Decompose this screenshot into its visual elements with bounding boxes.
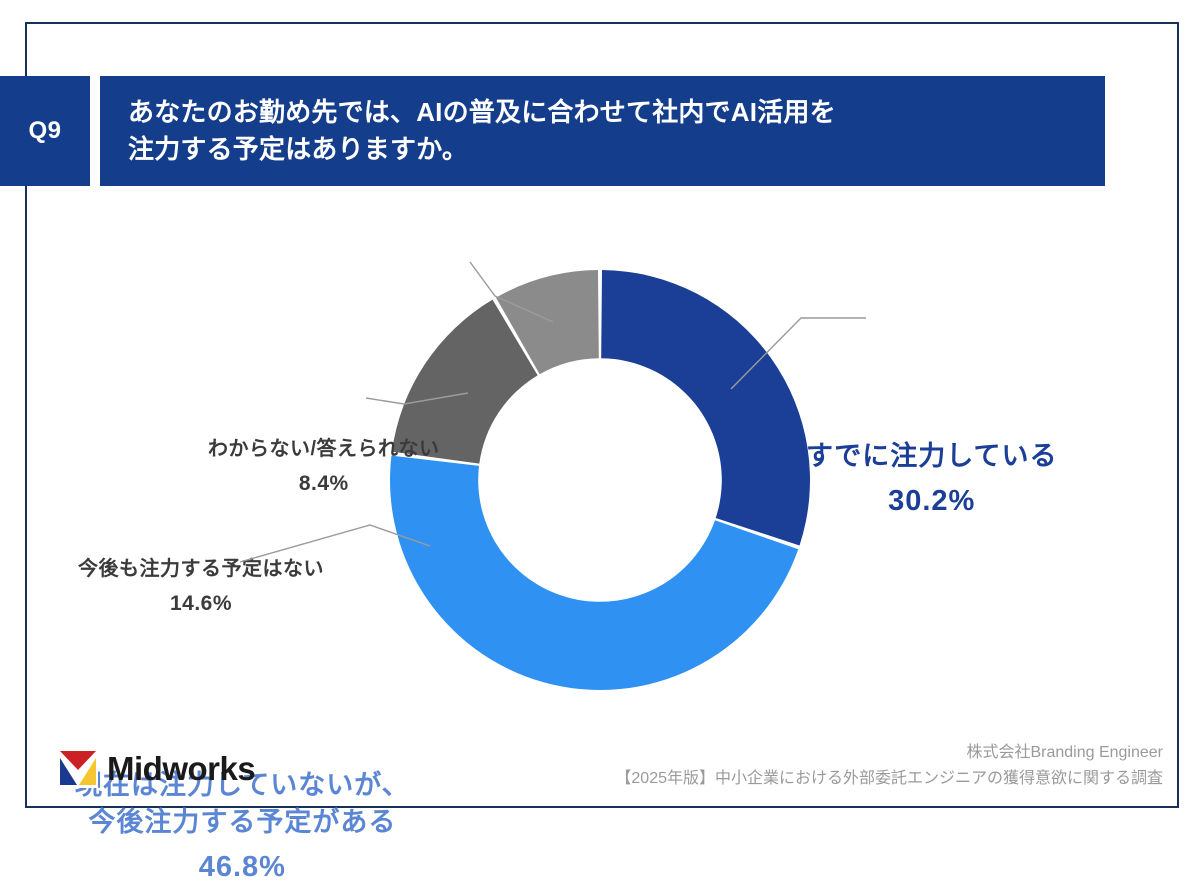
donut-chart [385,265,815,695]
label-already-text: すでに注力している [806,438,1057,475]
question-title-line-1: あなたのお勤め先では、AIの普及に合わせて社内でAI活用を [128,94,1105,131]
label-already-focused: すでに注力している 30.2% [806,438,1057,521]
slide-canvas: Q9 あなたのお勤め先では、AIの普及に合わせて社内でAI活用を 注力する予定は… [0,0,1203,833]
donut-slice [601,270,810,545]
label-no-plan: 今後も注力する予定はない 14.6% [78,556,324,619]
label-no-plan-text: 今後も注力する予定はない [78,556,324,584]
question-title-line-2: 注力する予定はありますか。 [128,131,1105,168]
midworks-logo-mark-icon [58,748,98,788]
midworks-logo-text: Midworks [107,752,255,785]
question-number-label: Q9 [28,117,61,145]
midworks-logo: Midworks [58,748,255,788]
label-unknown: わからない/答えられない 8.4% [208,436,440,499]
donut-slices [390,270,810,690]
question-number-badge: Q9 [0,76,90,186]
footer-credit-survey: 【2025年版】中小企業における外部委託エンジニアの獲得意欲に関する調査 [615,766,1163,792]
label-already-value: 30.2% [806,481,1057,521]
label-unknown-value: 8.4% [208,470,440,499]
label-unknown-text: わからない/答えられない [208,436,440,464]
footer-credit-company: 株式会社Branding Engineer [615,740,1163,766]
footer-credit: 株式会社Branding Engineer 【2025年版】中小企業における外部… [615,740,1163,791]
label-no-plan-value: 14.6% [78,590,324,619]
donut-chart-area: すでに注力している 30.2% 現在は注力していないが、 今後注力する予定がある… [0,190,1203,730]
label-future-text-line-2: 今後注力する予定がある [75,804,410,841]
label-future-value: 46.8% [75,847,410,887]
question-title-box: あなたのお勤め先では、AIの普及に合わせて社内でAI活用を 注力する予定はありま… [100,76,1105,186]
